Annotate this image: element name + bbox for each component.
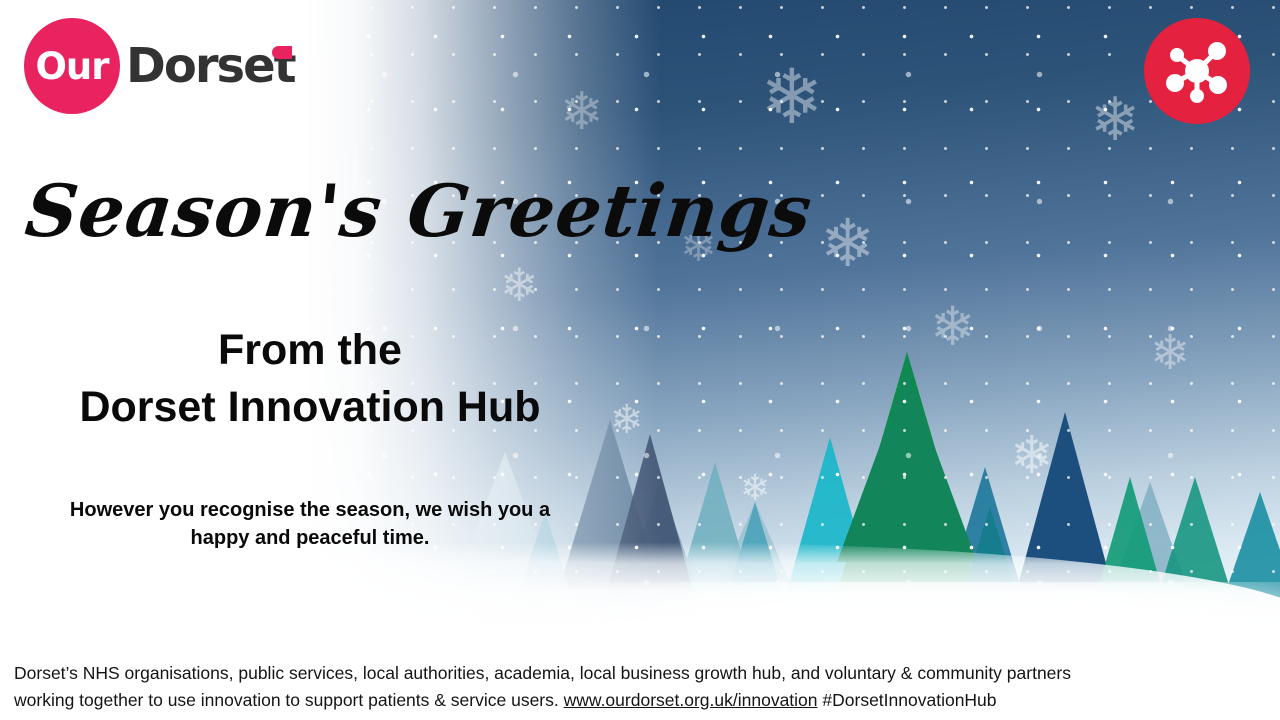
footer: Dorset’s NHS organisations, public servi…	[0, 652, 1280, 720]
our-logo-circle: Our	[24, 18, 120, 114]
logo-our-text: Our	[35, 45, 108, 88]
greeting-card: ❄ ❄ ❄ ❄ ❄ ❄ ❄ ❄ ❄ ❄ ❄ ❄ ❄	[0, 0, 1280, 720]
logo-dorset-wordmark: Dorset	[126, 38, 295, 94]
footer-line-2: working together to use innovation to su…	[14, 687, 1266, 714]
snowflake-icon: ❄	[1090, 90, 1140, 150]
snowflake-icon: ❄	[760, 60, 824, 136]
snowflake-icon: ❄	[1150, 330, 1190, 378]
our-dorset-logo[interactable]: Our Dorset	[24, 18, 295, 114]
snowflake-icon: ❄	[930, 300, 975, 354]
from-heading: From the Dorset Innovation Hub	[0, 322, 620, 436]
ourdorset-innovation-link[interactable]: www.ourdorset.org.uk/innovation	[564, 690, 818, 710]
wish-line-1: However you recognise the season, we wis…	[0, 496, 620, 524]
wish-line-2: happy and peaceful time.	[0, 524, 620, 552]
snowflake-icon: ❄	[500, 262, 539, 308]
heart-accent-icon	[279, 46, 292, 59]
footer-hashtag: #DorsetInnovationHub	[822, 690, 996, 710]
snow-ground-highlight	[540, 582, 1280, 652]
snowflake-icon: ❄	[560, 86, 604, 138]
wish-message: However you recognise the season, we wis…	[0, 496, 620, 553]
innovation-hub-badge[interactable]	[1144, 18, 1250, 124]
from-line-1: From the	[0, 322, 620, 379]
logo-dorset-text: Dorset	[126, 38, 295, 94]
footer-line-1: Dorset’s NHS organisations, public servi…	[14, 660, 1266, 687]
snowflake-icon: ❄	[820, 210, 875, 276]
innovation-network-icon	[1161, 35, 1233, 107]
from-line-2: Dorset Innovation Hub	[0, 379, 620, 436]
footer-line-2-text: working together to use innovation to su…	[14, 690, 559, 710]
seasons-greetings-heading: Season's Greetings	[22, 168, 651, 253]
